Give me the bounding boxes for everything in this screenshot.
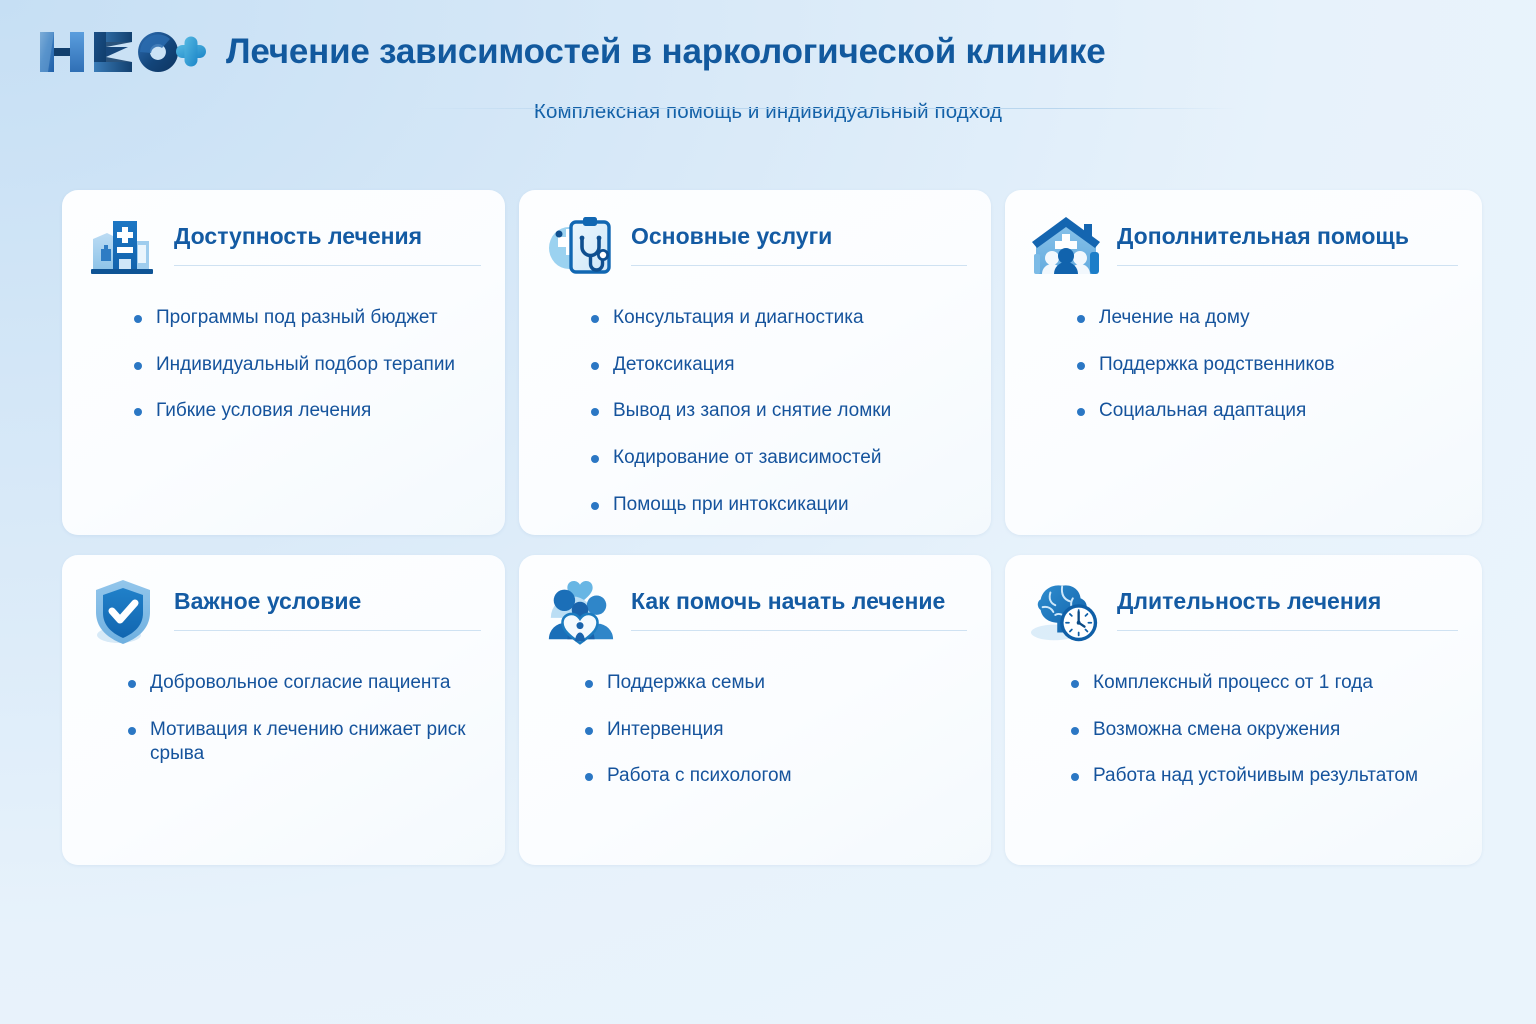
list-item-label: Кодирование от зависимостей <box>613 447 881 468</box>
list-item: Программы под разный бюджет <box>134 306 481 331</box>
card-bullet-list: Добровольное согласие пациента Мотивация… <box>86 671 481 767</box>
card-header: Как помочь начать лечение <box>543 577 967 647</box>
card-divider <box>174 265 481 266</box>
list-item: Мотивация к лечению снижает риск срыва <box>128 718 481 767</box>
card-divider <box>174 630 481 631</box>
card-divider <box>1117 265 1458 266</box>
card-title: Важное условие <box>174 589 481 614</box>
bullet-dot <box>128 680 136 688</box>
card-header: Дополнительная помощь <box>1029 212 1458 282</box>
list-item: Комплексный процесс от 1 года <box>1071 671 1458 696</box>
list-item: Работа с психологом <box>585 764 967 789</box>
bullet-dot <box>1077 315 1085 323</box>
bullet-dot <box>1071 680 1079 688</box>
list-item-label: Добровольное согласие пациента <box>150 672 450 693</box>
hospital-building-icon <box>86 212 160 282</box>
bullet-dot <box>591 362 599 370</box>
bullet-dot <box>1077 362 1085 370</box>
list-item-label: Возможна смена окружения <box>1093 719 1340 740</box>
brain-clock-icon <box>1029 577 1103 647</box>
house-with-family-icon <box>1029 212 1103 282</box>
list-item-label: Индивидуальный подбор терапии <box>156 354 455 375</box>
card-main-services[interactable]: Основные услуги Консультация и диагности… <box>519 190 991 535</box>
list-item-label: Социальная адаптация <box>1099 400 1306 421</box>
card-title: Длительность лечения <box>1117 589 1458 614</box>
card-head-text: Как помочь начать лечение <box>631 577 967 631</box>
card-head-text: Важное условие <box>174 577 481 631</box>
bullet-dot <box>585 680 593 688</box>
neo-plus-logo-icon <box>36 26 208 78</box>
list-item-label: Комплексный процесс от 1 года <box>1093 672 1373 693</box>
card-title: Основные услуги <box>631 224 967 249</box>
list-item-label: Работа с психологом <box>607 765 792 786</box>
list-item-label: Лечение на дому <box>1099 307 1250 328</box>
list-item: Добровольное согласие пациента <box>128 671 481 696</box>
bullet-dot <box>591 502 599 510</box>
page-subtitle: Комплексная помощь и индивидуальный подх… <box>0 100 1536 124</box>
list-item-label: Консультация и диагностика <box>613 307 864 328</box>
list-item: Поддержка семьи <box>585 671 967 696</box>
card-bullet-list: Программы под разный бюджет Индивидуальн… <box>86 306 481 424</box>
bullet-dot <box>1071 773 1079 781</box>
title-row: Лечение зависимостей в наркологической к… <box>0 26 1536 78</box>
card-head-text: Длительность лечения <box>1117 577 1458 631</box>
card-title: Как помочь начать лечение <box>631 589 967 614</box>
card-head-text: Доступность лечения <box>174 212 481 266</box>
bullet-dot <box>585 727 593 735</box>
bullet-dot <box>128 727 136 735</box>
card-title: Дополнительная помощь <box>1117 224 1458 249</box>
list-item-label: Помощь при интоксикации <box>613 494 849 515</box>
bullet-dot <box>591 408 599 416</box>
list-item: Лечение на дому <box>1077 306 1458 331</box>
bullet-dot <box>134 408 142 416</box>
card-how-to-start-treatment[interactable]: Как помочь начать лечение Поддержка семь… <box>519 555 991 865</box>
card-header: Основные услуги <box>543 212 967 282</box>
list-item-label: Вывод из запоя и снятие ломки <box>613 400 891 421</box>
list-item: Гибкие условия лечения <box>134 399 481 424</box>
clipboard-stethoscope-icon <box>543 212 617 282</box>
list-item: Интервенция <box>585 718 967 743</box>
card-head-text: Дополнительная помощь <box>1117 212 1458 266</box>
family-heart-icon <box>543 577 617 647</box>
bullet-dot <box>1071 727 1079 735</box>
card-bullet-list: Поддержка семьи Интервенция Работа с пси… <box>543 671 967 789</box>
bullet-dot <box>591 315 599 323</box>
card-important-condition[interactable]: Важное условие Добровольное согласие пац… <box>62 555 505 865</box>
list-item: Поддержка родственников <box>1077 353 1458 378</box>
card-grid: Доступность лечения Программы под разный… <box>62 190 1474 865</box>
page-header: Лечение зависимостей в наркологической к… <box>0 0 1536 172</box>
list-item: Возможна смена окружения <box>1071 718 1458 743</box>
card-divider <box>631 630 967 631</box>
list-item-label: Поддержка семьи <box>607 672 765 693</box>
list-item-label: Программы под разный бюджет <box>156 307 438 328</box>
card-header: Длительность лечения <box>1029 577 1458 647</box>
list-item: Консультация и диагностика <box>591 306 967 331</box>
bullet-dot <box>591 455 599 463</box>
list-item: Вывод из запоя и снятие ломки <box>591 399 967 424</box>
list-item: Детоксикация <box>591 353 967 378</box>
list-item-label: Детоксикация <box>613 354 735 375</box>
list-item: Индивидуальный подбор терапии <box>134 353 481 378</box>
list-item-label: Поддержка родственников <box>1099 354 1335 375</box>
shield-check-icon <box>86 577 160 647</box>
card-header: Важное условие <box>86 577 481 647</box>
list-item: Работа над устойчивым результатом <box>1071 764 1458 789</box>
header-divider <box>415 108 1236 109</box>
card-treatment-duration[interactable]: Длительность лечения Комплексный процесс… <box>1005 555 1482 865</box>
card-title: Доступность лечения <box>174 224 481 249</box>
card-header: Доступность лечения <box>86 212 481 282</box>
card-bullet-list: Лечение на дому Поддержка родственников … <box>1029 306 1458 424</box>
list-item-label: Интервенция <box>607 719 724 740</box>
card-treatment-availability[interactable]: Доступность лечения Программы под разный… <box>62 190 505 535</box>
bullet-dot <box>134 315 142 323</box>
list-item-label: Работа над устойчивым результатом <box>1093 765 1418 786</box>
card-bullet-list: Комплексный процесс от 1 года Возможна с… <box>1029 671 1458 789</box>
bullet-dot <box>585 773 593 781</box>
list-item-label: Мотивация к лечению снижает риск срыва <box>150 719 466 765</box>
card-additional-help[interactable]: Дополнительная помощь Лечение на дому По… <box>1005 190 1482 535</box>
card-divider <box>631 265 967 266</box>
card-divider <box>1117 630 1458 631</box>
list-item: Социальная адаптация <box>1077 399 1458 424</box>
list-item-label: Гибкие условия лечения <box>156 400 371 421</box>
page-title: Лечение зависимостей в наркологической к… <box>226 32 1106 72</box>
list-item: Кодирование от зависимостей <box>591 446 967 471</box>
bullet-dot <box>1077 408 1085 416</box>
card-bullet-list: Консультация и диагностика Детоксикация … <box>543 306 967 517</box>
list-item: Помощь при интоксикации <box>591 493 967 518</box>
bullet-dot <box>134 362 142 370</box>
card-head-text: Основные услуги <box>631 212 967 266</box>
